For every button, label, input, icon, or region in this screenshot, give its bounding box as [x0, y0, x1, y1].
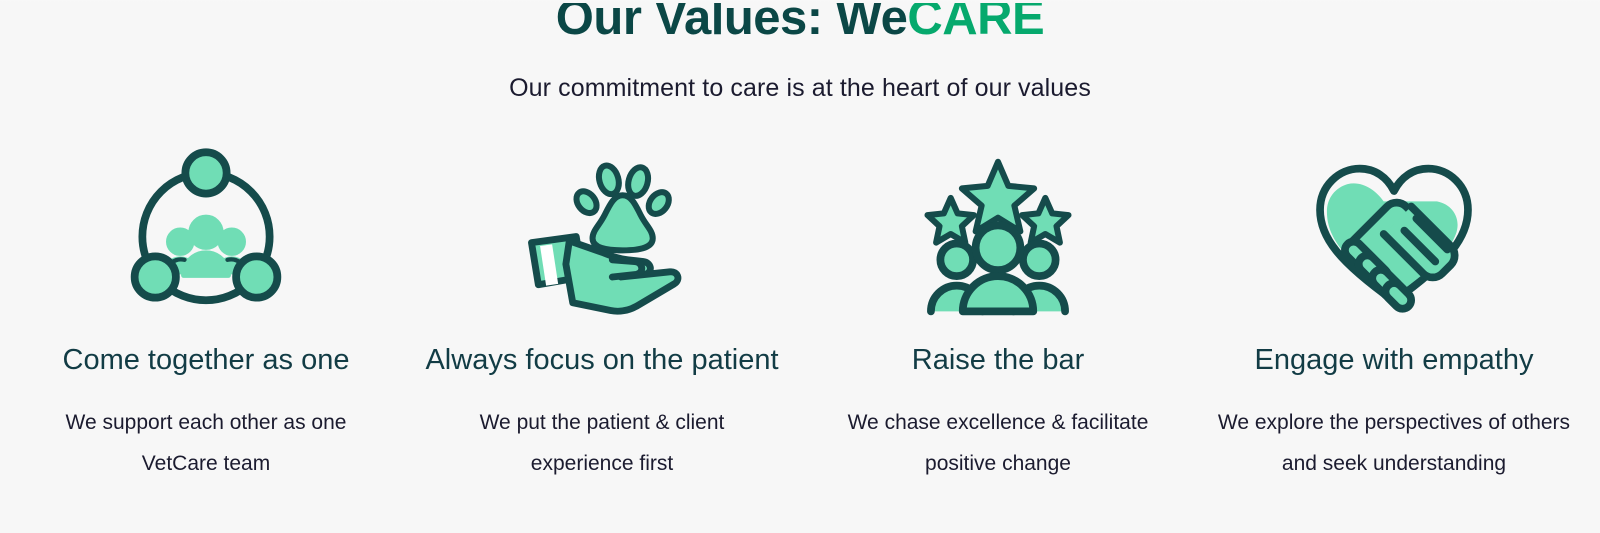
people-stars-icon: [905, 148, 1091, 320]
values-grid: Come together as one We support each oth…: [0, 148, 1600, 485]
value-description: We put the patient & client experience f…: [437, 403, 767, 485]
our-values-section: Our Values: WeCARE Our commitment to car…: [0, 0, 1600, 523]
value-card: Engage with empathy We explore the persp…: [1196, 148, 1592, 485]
value-card: Come together as one We support each oth…: [8, 148, 404, 485]
value-description: We support each other as one VetCare tea…: [41, 403, 371, 485]
value-title: Come together as one: [63, 343, 350, 378]
value-description: We explore the perspectives of others an…: [1210, 403, 1578, 485]
page-subtitle: Our commitment to care is at the heart o…: [0, 72, 1600, 105]
value-title: Always focus on the patient: [425, 343, 778, 378]
value-title: Raise the bar: [912, 343, 1085, 378]
value-card: Always focus on the patient We put the p…: [404, 148, 800, 485]
page-title: Our Values: WeCARE: [0, 0, 1600, 48]
value-card: Raise the bar We chase excellence & faci…: [800, 148, 1196, 485]
page-title-accent: CARE: [907, 0, 1044, 45]
handshake-heart-icon: [1301, 148, 1487, 320]
hand-paw-icon: [509, 148, 695, 320]
value-description: We chase excellence & facilitate positiv…: [833, 403, 1163, 485]
section-heading: Our Values: WeCARE Our commitment to car…: [0, 0, 1600, 104]
page-title-prefix: Our Values: We: [556, 0, 908, 45]
value-title: Engage with empathy: [1255, 343, 1534, 378]
team-circle-icon: [113, 148, 299, 320]
